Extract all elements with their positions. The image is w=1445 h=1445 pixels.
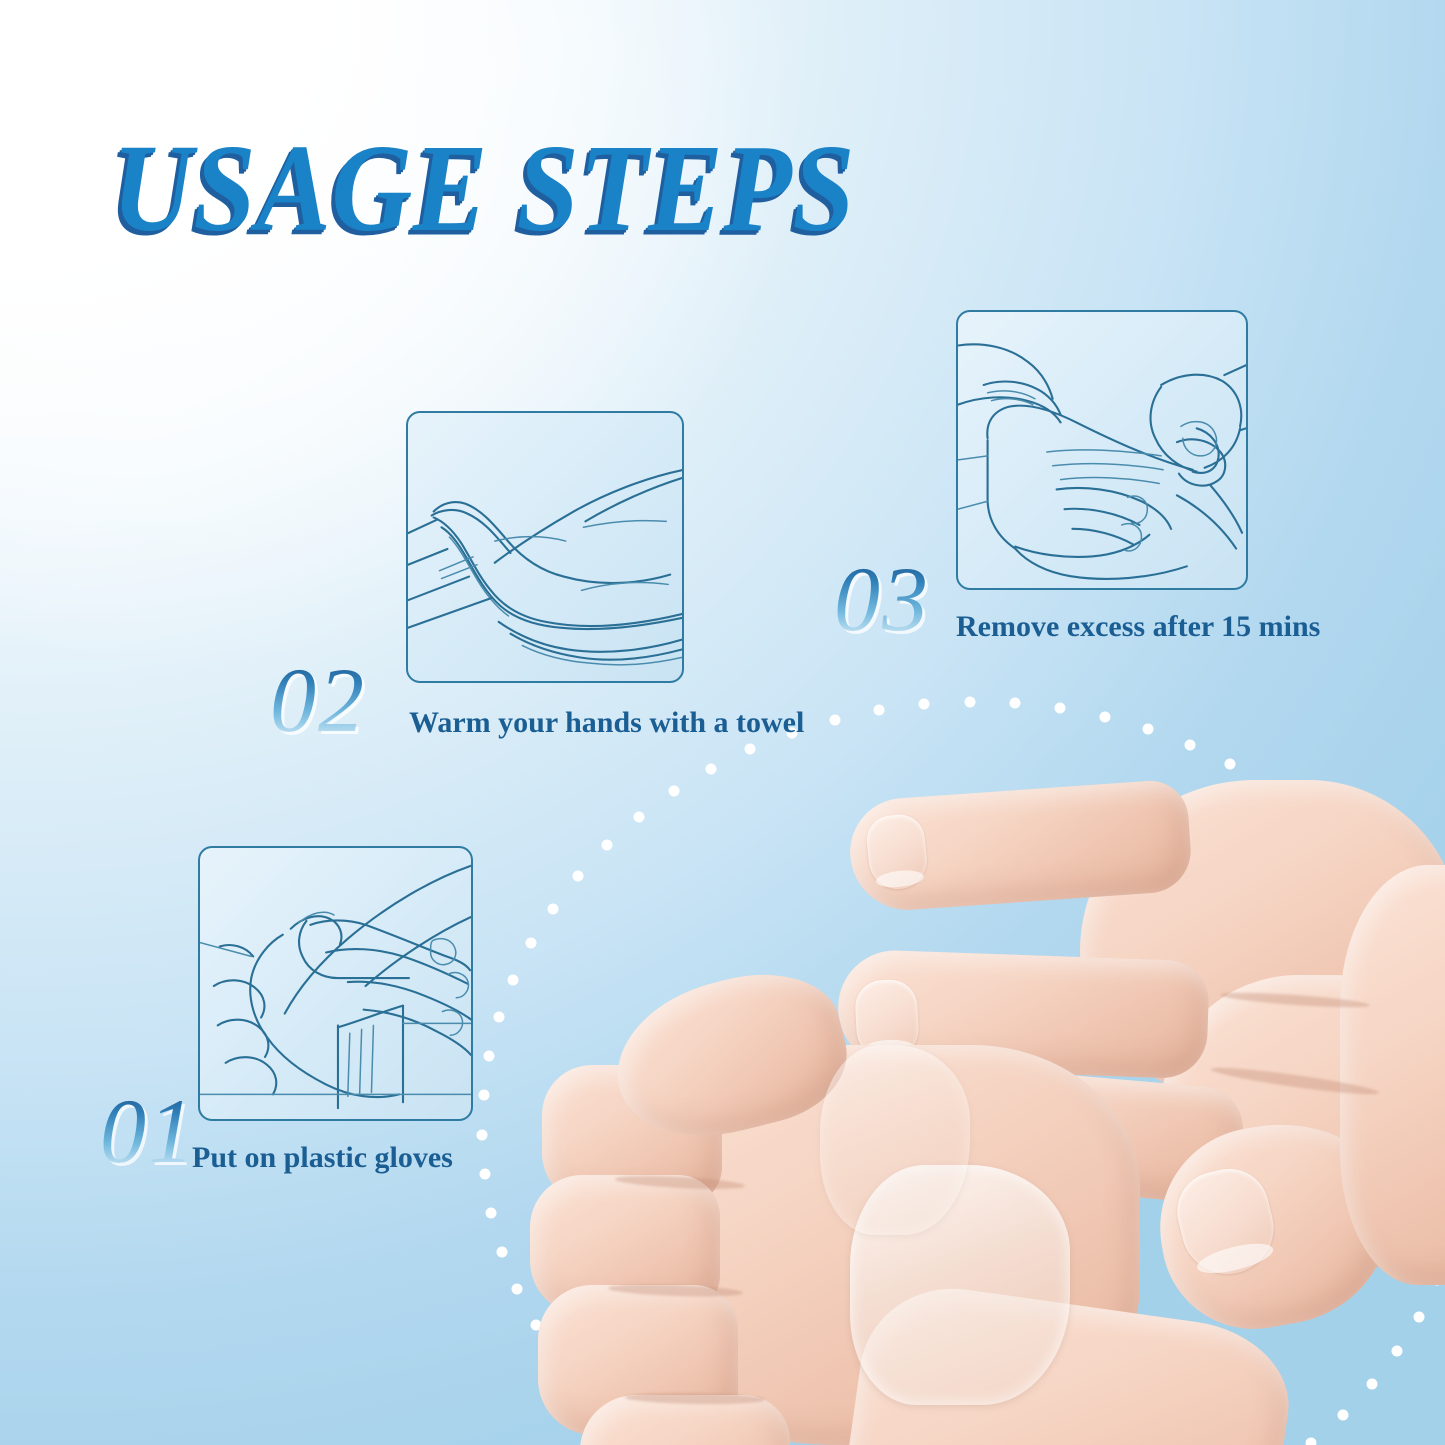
step-03-illustration	[956, 310, 1248, 590]
usage-steps-poster: USAGE STEPS	[0, 0, 1445, 1445]
step-03-caption: Remove excess after 15 mins	[956, 612, 1320, 642]
step-01-illustration	[198, 846, 473, 1121]
step-03-number: 03	[834, 553, 930, 645]
step-01-caption: Put on plastic gloves	[192, 1143, 453, 1173]
page-title: USAGE STEPS	[112, 126, 855, 251]
step-01-number: 01	[100, 1085, 196, 1177]
gel-highlight	[820, 1045, 970, 1235]
hands-applying-gel-photo	[520, 745, 1445, 1445]
step-02-illustration	[406, 411, 684, 683]
step-02-number: 02	[270, 654, 366, 746]
step-02-caption: Warm your hands with a towel	[409, 708, 804, 738]
